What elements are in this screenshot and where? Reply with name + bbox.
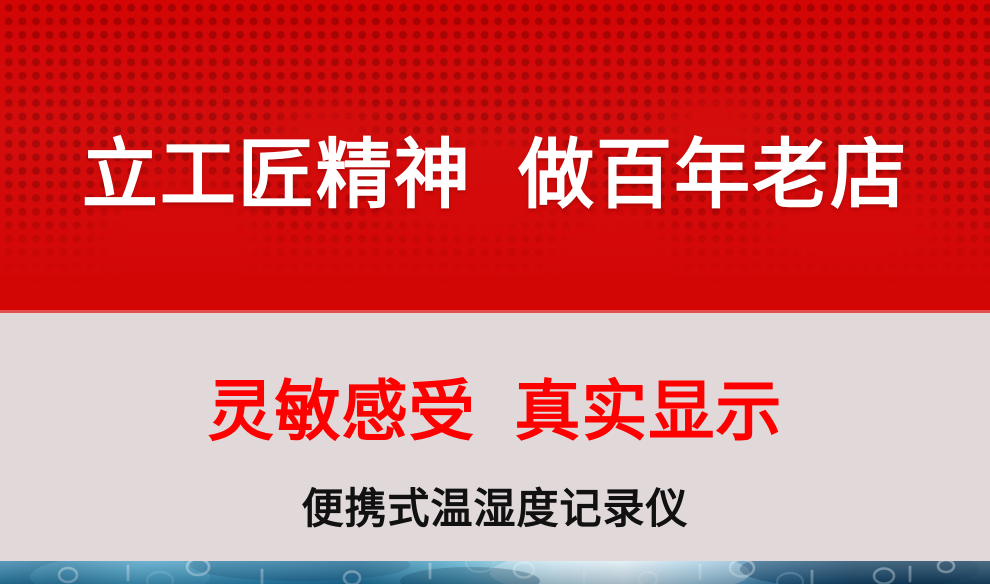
product-subtitle: 便携式温湿度记录仪	[0, 483, 990, 535]
binary-digits-graphic	[0, 561, 990, 584]
technology-image-strip	[0, 561, 990, 584]
headline-slogan: 立工匠精神 做百年老店	[0, 132, 990, 220]
red-header-band: 立工匠精神 做百年老店	[0, 0, 990, 313]
light-content-panel: 灵敏感受 真实显示 便携式温湿度记录仪	[0, 313, 990, 561]
product-banner: 立工匠精神 做百年老店 灵敏感受 真实显示 便携式温湿度记录仪	[0, 0, 990, 584]
tagline-text: 灵敏感受 真实显示	[0, 371, 990, 451]
